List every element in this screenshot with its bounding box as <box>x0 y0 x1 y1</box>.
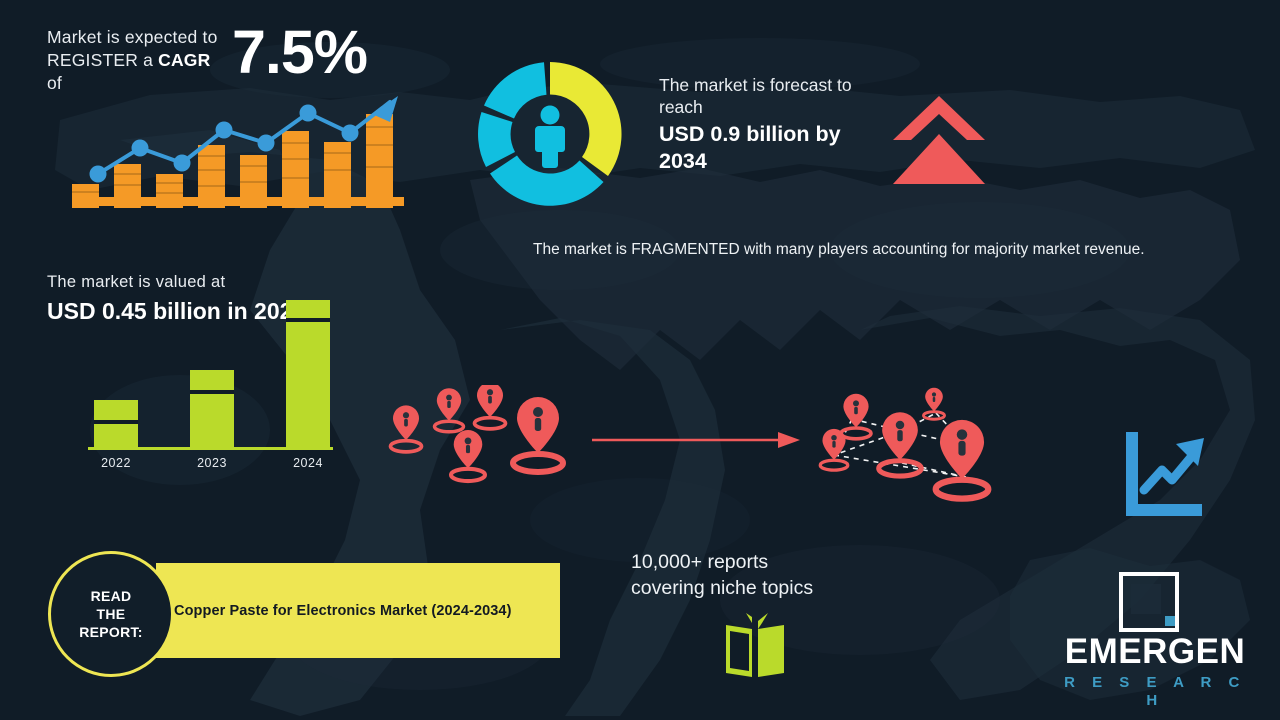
donut-segment-yellow <box>550 62 622 176</box>
cagr-label-line2-prefix: REGISTER a <box>47 50 158 70</box>
cagr-label-line1: Market is expected to <box>47 27 218 47</box>
double-chevron-up-icon <box>889 92 989 188</box>
square-bracket-logo-icon <box>1117 570 1179 632</box>
cagr-value: 7.5% <box>232 22 367 83</box>
cagr-label: Market is expected to REGISTER a CAGR of <box>47 22 227 95</box>
map-pin-person-icon <box>924 388 945 420</box>
green-x-label-2023: 2023 <box>182 456 242 470</box>
trend-line <box>72 88 408 208</box>
emergen-research-logo: EMERGEN R E S E A R C H <box>1055 570 1255 700</box>
connected-players-cluster <box>802 385 1022 505</box>
reports-count-block: 10,000+ reports covering niche topics <box>631 549 931 601</box>
open-book-icon <box>722 611 792 679</box>
forecast-block: The market is forecast to reach USD 0.9 … <box>659 74 889 175</box>
right-arrow-icon <box>592 428 802 452</box>
cagr-label-bold: CAGR <box>158 50 210 70</box>
reports-count-line2: covering niche topics <box>631 575 931 601</box>
read-the-report-label: READ THE REPORT: <box>79 587 143 641</box>
market-share-donut-chart <box>470 54 630 214</box>
green-bars <box>80 288 330 448</box>
green-x-label-2022: 2022 <box>86 456 146 470</box>
map-pin-person-icon <box>475 385 506 429</box>
read-line-1: READ <box>91 588 132 604</box>
green-bar-2023 <box>190 370 234 448</box>
infographic-canvas: Market is expected to REGISTER a CAGR of… <box>0 0 1280 720</box>
logo-subtitle: R E S E A R C H <box>1055 674 1255 710</box>
forecast-value: USD 0.9 billion by 2034 <box>659 121 889 175</box>
read-line-3: REPORT: <box>79 624 143 640</box>
cagr-label-line2-suffix: of <box>47 73 62 93</box>
cagr-block: Market is expected to REGISTER a CAGR of… <box>47 22 467 95</box>
line-chart-growth-icon <box>1118 428 1210 520</box>
green-chart-axis <box>88 447 333 450</box>
map-pin-person-icon <box>820 429 848 470</box>
green-x-label-2024: 2024 <box>278 456 338 470</box>
fragmented-statement: The market is FRAGMENTED with many playe… <box>533 238 1223 262</box>
green-bar-2022 <box>94 400 138 448</box>
read-line-2: THE <box>97 606 126 622</box>
read-the-report-button[interactable]: READ THE REPORT: <box>48 551 174 677</box>
map-pin-person-icon <box>513 397 563 472</box>
market-value-bar-chart: 2022 2023 2024 <box>80 290 340 470</box>
report-banner[interactable]: Copper Paste for Electronics Market (202… <box>156 563 560 658</box>
report-title: Copper Paste for Electronics Market (202… <box>174 563 512 658</box>
map-pin-person-icon <box>391 405 422 452</box>
donut-segment-cyan-3 <box>484 62 547 118</box>
map-pin-person-icon <box>936 420 989 499</box>
donut-segment-cyan-2 <box>478 112 515 167</box>
green-bar-2024 <box>286 300 330 448</box>
forecast-sub-label: The market is forecast to reach <box>659 74 889 118</box>
person-icon <box>535 106 565 169</box>
reports-count-line1: 10,000+ reports <box>631 549 931 575</box>
logo-name: EMERGEN <box>1055 632 1255 672</box>
map-pin-person-icon <box>451 430 485 481</box>
map-pin-person-icon <box>435 388 464 432</box>
growth-bar-chart <box>72 88 408 218</box>
fragmented-players-cluster <box>380 385 580 495</box>
